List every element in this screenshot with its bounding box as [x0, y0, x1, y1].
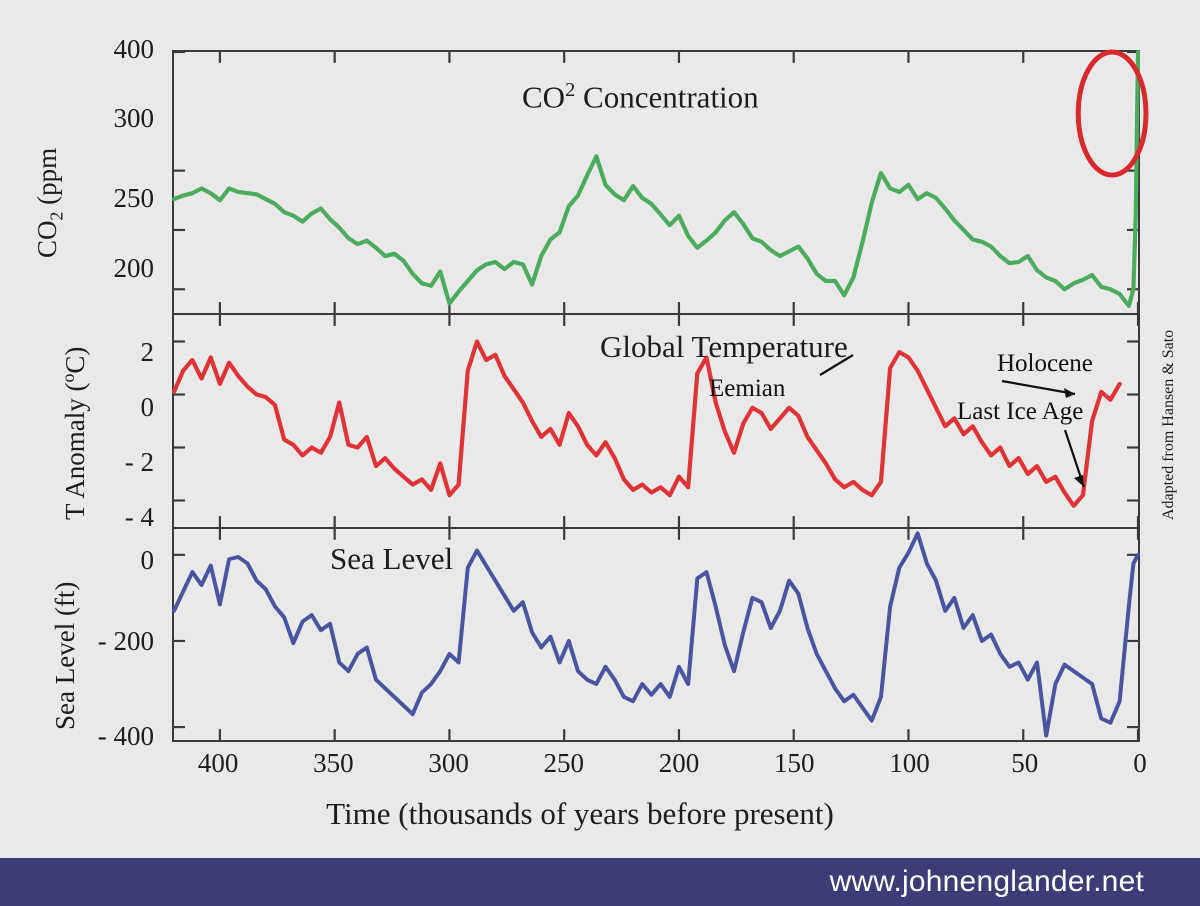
co2-axis-title-main: CO	[32, 220, 62, 258]
panel-sea-level	[172, 527, 1140, 742]
sea-level-data-line	[174, 533, 1138, 735]
footer-website-url: www.johnenglander.net	[830, 865, 1144, 899]
co2-ytick-200: 200	[114, 255, 155, 282]
temp-ytick-0: 0	[141, 394, 155, 421]
temperature-panel-title: Global Temperature	[600, 329, 848, 365]
plot-stack	[172, 50, 1140, 742]
x-tick-250: 250	[544, 748, 585, 779]
co2-axis-title-sub: 2	[46, 212, 66, 221]
sea-tick-marks	[174, 529, 1138, 740]
temp-ytick-2: 2	[141, 339, 155, 366]
sea-ytick-minus200: - 200	[98, 628, 154, 655]
temp-axis-title: T Anomaly (oC)	[58, 347, 91, 520]
co2-ytick-300: 300	[114, 105, 155, 132]
annotation-holocene: Holocene	[997, 350, 1093, 378]
temp-axis-title-tail: C)	[60, 347, 90, 374]
co2-panel-title-main: CO	[522, 79, 565, 114]
sea-axis-title: Sea Level (ft)	[50, 582, 81, 730]
sea-ytick-0: 0	[141, 547, 155, 574]
co2-axis-title: CO2 (ppm	[32, 148, 67, 258]
source-credit: Adapted from Hansen & Sato	[1160, 330, 1178, 520]
temp-axis-title-degree: o	[58, 374, 78, 383]
sea-plot-svg	[174, 529, 1138, 740]
co2-axis-title-tail: (ppm	[32, 148, 62, 212]
temp-axis-title-main: T Anomaly (	[60, 383, 90, 521]
annotation-eemian: Eemian	[709, 375, 785, 403]
sea-ytick-labels: 0 - 200 - 400	[26, 527, 154, 742]
x-tick-50: 50	[1011, 748, 1038, 779]
sea-level-panel-title: Sea Level	[330, 541, 453, 577]
co2-panel-title-tail: Concentration	[575, 79, 758, 114]
x-tick-300: 300	[428, 748, 469, 779]
x-tick-150: 150	[774, 748, 815, 779]
co2-ytick-250: 250	[114, 185, 155, 212]
co2-panel-title: CO2 Concentration	[522, 79, 759, 115]
co2-ytick-400: 400	[114, 36, 155, 63]
x-tick-400: 400	[198, 748, 239, 779]
footer-banner: www.johnenglander.net	[0, 858, 1200, 906]
x-axis-title: Time (thousands of years before present)	[0, 796, 1160, 832]
sea-ytick-minus400: - 400	[98, 723, 154, 750]
x-axis-tick-labels: 400350300250200150100500	[172, 748, 1140, 782]
x-tick-200: 200	[659, 748, 700, 779]
co2-panel-title-sup: 2	[565, 79, 575, 101]
x-tick-100: 100	[889, 748, 930, 779]
x-tick-350: 350	[313, 748, 354, 779]
temp-ytick-minus2: - 2	[125, 449, 154, 476]
x-tick-0: 0	[1133, 748, 1147, 779]
annotation-last-ice-age: Last Ice Age	[957, 398, 1083, 426]
figure-root: 400 300 250 200 CO2 (ppm 2 0 - 2 - 4 T A…	[0, 0, 1200, 906]
